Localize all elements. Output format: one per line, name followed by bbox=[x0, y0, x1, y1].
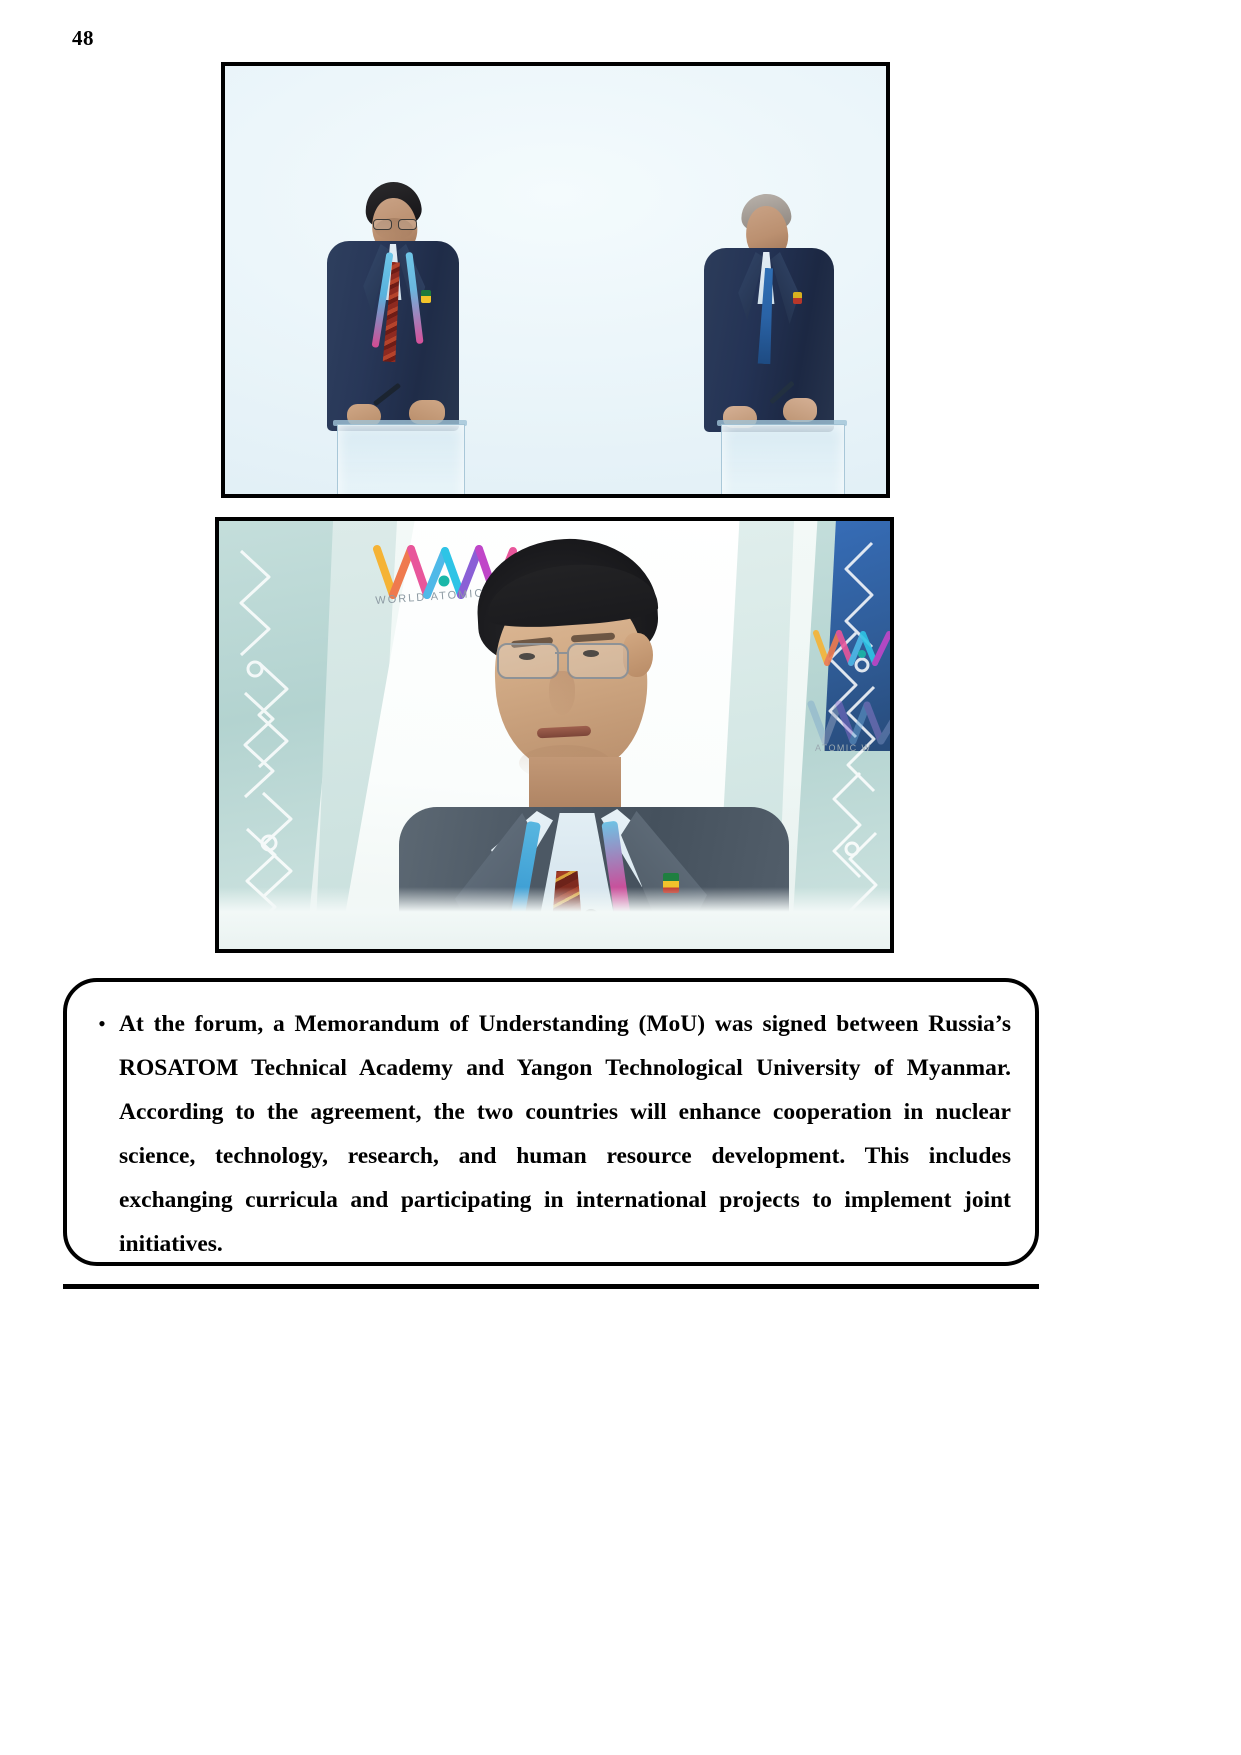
lapel-pin-icon bbox=[793, 292, 802, 304]
page-number: 48 bbox=[72, 26, 94, 51]
interview-scene: WORLD ATOMIC INDUSTRY bbox=[219, 521, 890, 949]
callout-box: • At the forum, a Memorandum of Understa… bbox=[63, 978, 1039, 1266]
interviewee-nose bbox=[549, 671, 575, 715]
right-podium bbox=[721, 424, 845, 498]
left-podium bbox=[337, 424, 465, 498]
callout-paragraph: At the forum, a Memorandum of Understand… bbox=[119, 1002, 1017, 1310]
studio-floor bbox=[219, 887, 890, 949]
glasses-lens-left bbox=[497, 643, 559, 679]
glasses-icon bbox=[373, 219, 417, 228]
signing-scene bbox=[225, 66, 886, 494]
mou-signing-ceremony-photo bbox=[221, 62, 890, 498]
interview-photo: WORLD ATOMIC INDUSTRY bbox=[215, 517, 894, 953]
zigzag-pattern-left bbox=[229, 543, 349, 943]
waw-logo-secondary bbox=[811, 629, 894, 669]
glasses-lens-right bbox=[567, 643, 629, 679]
footer-divider bbox=[63, 1284, 1039, 1289]
waw-tagline-tertiary: ATOMIC W bbox=[815, 743, 871, 753]
waw-logo-tertiary bbox=[805, 699, 894, 747]
bullet-list-item: • At the forum, a Memorandum of Understa… bbox=[85, 1002, 1017, 1310]
bullet-marker: • bbox=[85, 1002, 119, 1046]
right-signer-hand-right bbox=[783, 398, 817, 422]
flag-pin-icon bbox=[421, 290, 431, 303]
